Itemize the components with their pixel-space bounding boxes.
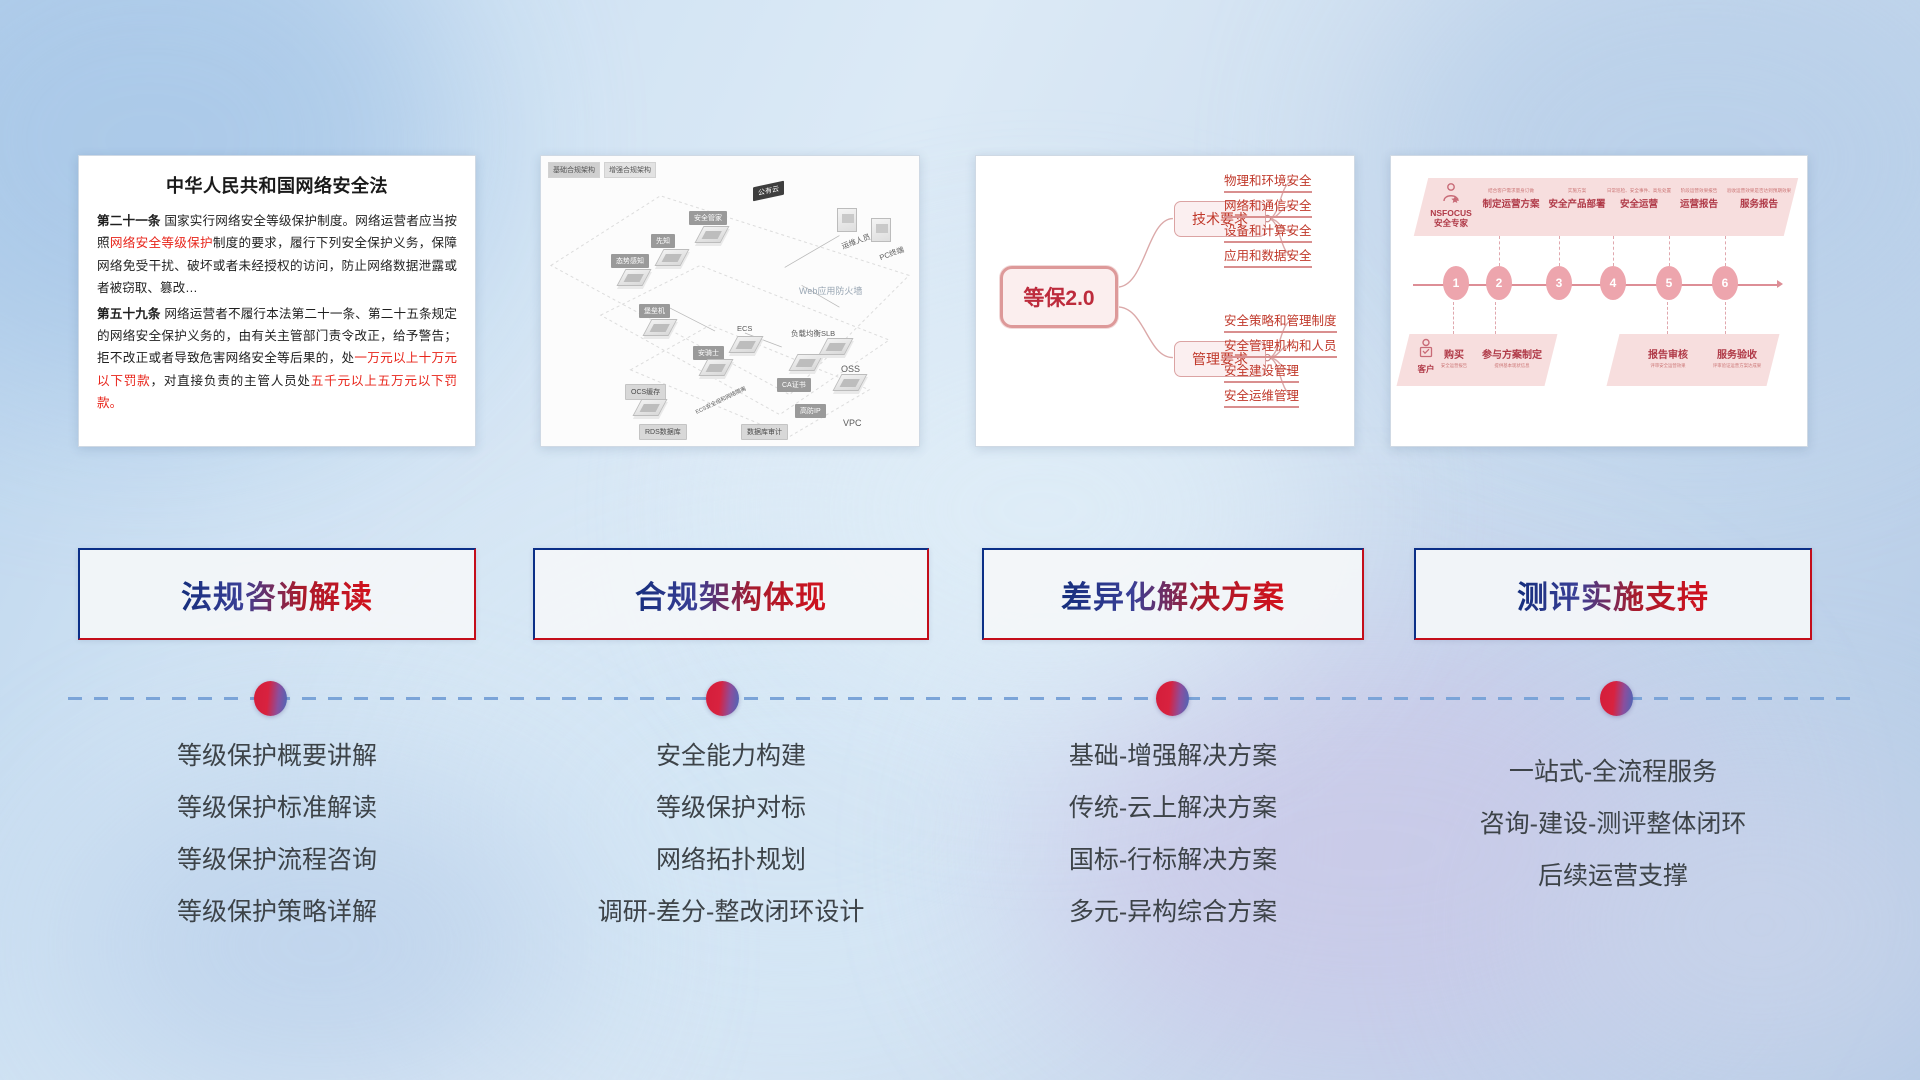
list-item: 多元-异构综合方案 xyxy=(982,900,1364,925)
list-item: 国标-行标解决方案 xyxy=(982,848,1364,873)
section-items-2: 安全能力构建 等级保护对标 网络拓扑规划 调研-差分-整改闭环设计 xyxy=(533,744,929,952)
section-items-4: 一站式-全流程服务 咨询-建设-测评整体闭环 后续运营支撑 xyxy=(1414,760,1812,916)
list-item: 等级保护对标 xyxy=(533,796,929,821)
timeline-dot-3[interactable] xyxy=(1156,681,1189,716)
list-item: 网络拓扑规划 xyxy=(533,848,929,873)
list-item: 一站式-全流程服务 xyxy=(1414,760,1812,785)
list-item: 咨询-建设-测评整体闭环 xyxy=(1414,812,1812,837)
timeline-dot-4[interactable] xyxy=(1600,681,1633,716)
list-item: 调研-差分-整改闭环设计 xyxy=(533,900,929,925)
timeline-dot-1[interactable] xyxy=(254,681,287,716)
list-item: 传统-云上解决方案 xyxy=(982,796,1364,821)
timeline-dot-2[interactable] xyxy=(706,681,739,716)
list-item: 等级保护标准解读 xyxy=(78,796,476,821)
list-item: 安全能力构建 xyxy=(533,744,929,769)
list-item: 等级保护概要讲解 xyxy=(78,744,476,769)
list-item: 基础-增强解决方案 xyxy=(982,744,1364,769)
section-items-1: 等级保护概要讲解 等级保护标准解读 等级保护流程咨询 等级保护策略详解 xyxy=(78,744,476,952)
list-item: 等级保护策略详解 xyxy=(78,900,476,925)
section-items-3: 基础-增强解决方案 传统-云上解决方案 国标-行标解决方案 多元-异构综合方案 xyxy=(982,744,1364,952)
list-item: 等级保护流程咨询 xyxy=(78,848,476,873)
list-item: 后续运营支撑 xyxy=(1414,864,1812,889)
section-item-lists: 等级保护概要讲解 等级保护标准解读 等级保护流程咨询 等级保护策略详解 安全能力… xyxy=(0,0,1920,1080)
